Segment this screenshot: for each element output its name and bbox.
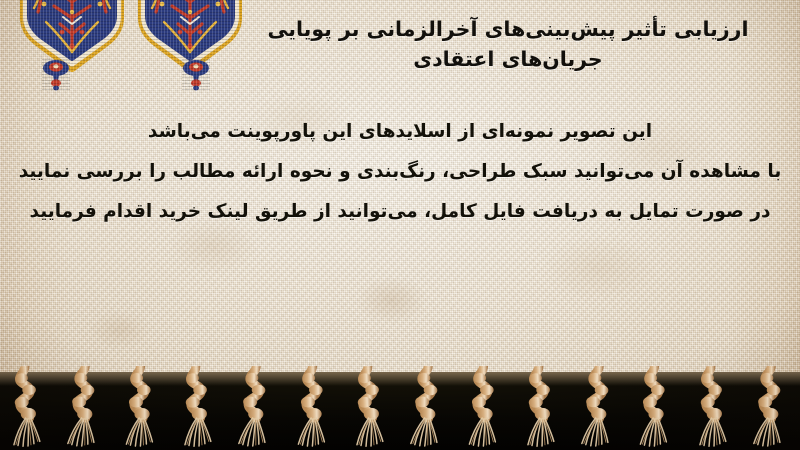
slide-text-layer: ارزیابی تأثیر پیش‌بینی‌های آخرالزمانی بر… <box>0 0 800 382</box>
fringe-tassel <box>348 365 392 449</box>
fringe-tassel <box>234 365 277 448</box>
page-title: ارزیابی تأثیر پیش‌بینی‌های آخرالزمانی بر… <box>228 14 788 74</box>
fringe-tassel <box>464 366 505 448</box>
fringe-tassel <box>292 366 333 448</box>
fringe-tassel <box>121 366 162 448</box>
fringe-tassel <box>176 365 220 449</box>
body-line-3: در صورت تمایل به دریافت فایل کامل، می‌تو… <box>0 192 800 232</box>
fringe-tassel <box>519 365 563 449</box>
body-line-1: این تصویر نمونه‌ای از اسلایدهای این پاور… <box>0 112 800 152</box>
fringe-tassel <box>63 365 106 448</box>
fringe-tassel <box>635 366 676 448</box>
slide-body: این تصویر نمونه‌ای از اسلایدهای این پاور… <box>0 112 800 232</box>
carpet-fringe-tassels <box>0 358 800 450</box>
fringe-tassel <box>5 365 49 449</box>
powerpoint-slide: ارزیابی تأثیر پیش‌بینی‌های آخرالزمانی بر… <box>0 0 800 450</box>
fringe-tassel <box>406 365 449 448</box>
fringe-tassel <box>690 365 734 449</box>
fringe-tassel <box>748 365 791 448</box>
page-title-text: ارزیابی تأثیر پیش‌بینی‌های آخرالزمانی بر… <box>268 17 749 71</box>
fringe-tassel <box>577 365 620 448</box>
body-line-2: با مشاهده آن می‌توانید سبک طراحی، رنگ‌بن… <box>0 152 800 192</box>
